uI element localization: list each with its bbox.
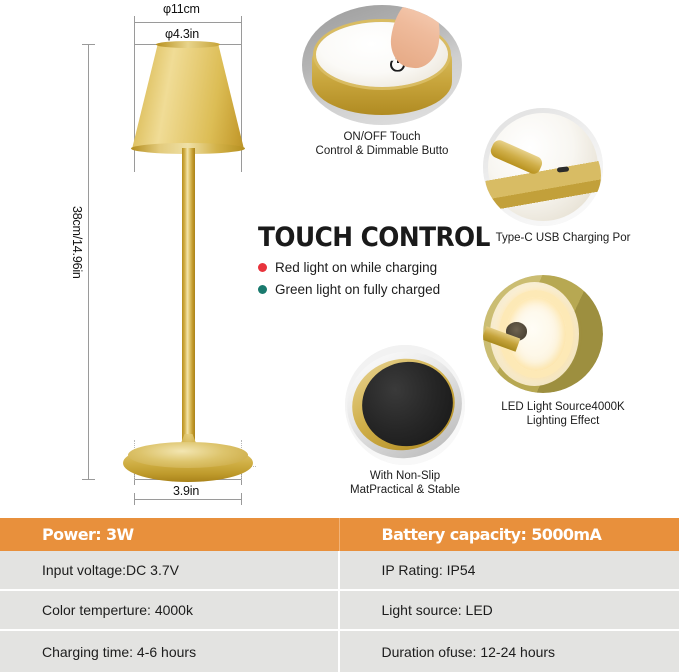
bullet-green-charged: Green light on fully charged	[258, 282, 510, 297]
header-cell-battery: Battery capacity: 5000mA	[340, 518, 679, 551]
header-cell-power: Power: 3W	[0, 518, 340, 551]
lamp-product-image	[122, 44, 254, 480]
dim-line-base-in	[134, 499, 242, 500]
bullet-red-charging: Red light on while charging	[258, 260, 510, 275]
callout-caption-usb: Type-C USB Charging Por	[463, 231, 663, 245]
red-indicator-icon	[258, 263, 267, 272]
green-indicator-icon	[258, 285, 267, 294]
caption-line-1: ON/OFF Touch	[302, 130, 462, 144]
bullet-label: Red light on while charging	[275, 260, 437, 275]
callout-caption-led: LED Light Source4000K Lighting Effect	[463, 400, 663, 428]
dim-tick	[82, 479, 95, 480]
cell-input-voltage: Input voltage:DC 3.7V	[0, 551, 340, 591]
product-infographic: φ11cm φ4.3in 38cm/14.96in 10cm 3.9in	[0, 0, 679, 672]
callout-caption-touch: ON/OFF Touch Control & Dimmable Butto	[302, 130, 462, 158]
cell-light-source: Light source: LED	[340, 591, 679, 631]
specification-table: Power: 3W Battery capacity: 5000mA Input…	[0, 518, 679, 672]
table-row: Charging time: 4-6 hours Duration ofuse:…	[0, 631, 679, 672]
caption-line-2: Control & Dimmable Butto	[302, 144, 462, 158]
lamp-shade	[132, 44, 244, 149]
label-height: 38cm/14.96in	[70, 206, 84, 279]
non-slip-mat-photo	[345, 345, 465, 465]
label-base-diameter-in: 3.9in	[173, 484, 199, 498]
table-row: Input voltage:DC 3.7V IP Rating: IP54	[0, 551, 679, 591]
label-shade-diameter-in: φ4.3in	[165, 27, 199, 41]
usb-port-photo	[483, 108, 603, 226]
table-header-row: Power: 3W Battery capacity: 5000mA	[0, 518, 679, 551]
cell-color-temperature: Color temperture: 4000k	[0, 591, 340, 631]
cell-charging-time: Charging time: 4-6 hours	[0, 631, 340, 672]
cell-duration-of-use: Duration ofuse: 12-24 hours	[340, 631, 679, 672]
table-row: Color temperture: 4000k Light source: LE…	[0, 591, 679, 631]
lamp-shade-top	[156, 41, 220, 48]
caption-line-2: Lighting Effect	[463, 414, 663, 428]
led-source-photo	[483, 275, 603, 393]
cell-ip-rating: IP Rating: IP54	[340, 551, 679, 591]
dim-tick	[241, 493, 242, 505]
label-shade-diameter-cm: φ11cm	[163, 2, 200, 16]
touch-control-title: TOUCH CONTROL	[258, 222, 490, 253]
dim-line-shade-cm	[134, 22, 242, 23]
touch-button-photo	[302, 5, 462, 125]
lamp-stem	[182, 148, 195, 451]
caption-line-1: LED Light Source4000K	[463, 400, 663, 414]
dim-tick	[82, 44, 95, 45]
dim-line-height	[88, 44, 89, 480]
bullet-label: Green light on fully charged	[275, 282, 440, 297]
callout-caption-mat: With Non-Slip MatPractical & Stable	[325, 469, 485, 497]
dim-tick	[134, 493, 135, 505]
caption-line-1: Type-C USB Charging Por	[463, 231, 663, 245]
lamp-base-top	[128, 442, 248, 468]
caption-line-1: With Non-Slip	[325, 469, 485, 483]
caption-line-2: MatPractical & Stable	[325, 483, 485, 497]
